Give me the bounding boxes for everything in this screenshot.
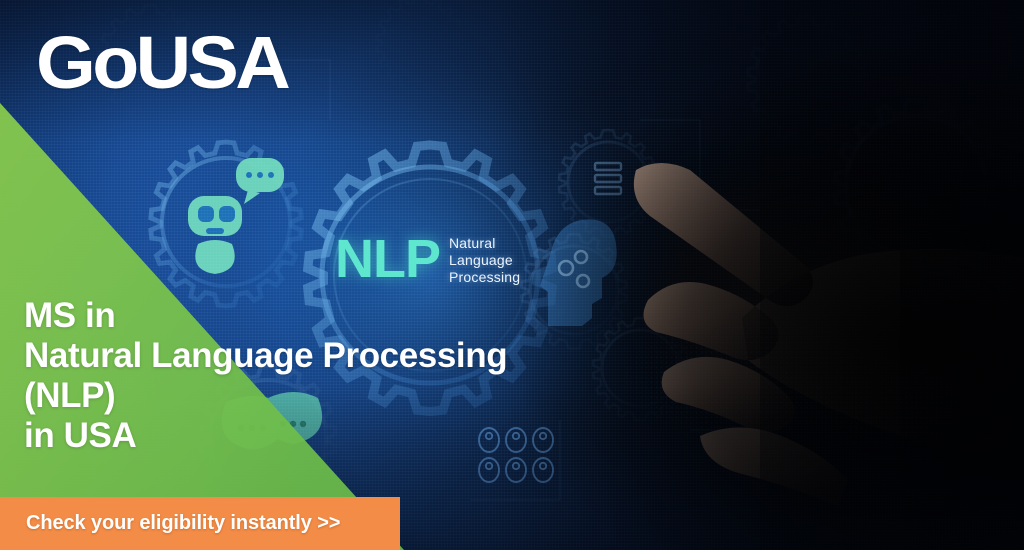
check-eligibility-button[interactable]: Check your eligibility instantly >>: [0, 497, 400, 550]
headline-line-2: Natural Language Processing: [24, 336, 507, 376]
promo-banner: NLP Natural Language Processing GoUSA MS…: [0, 0, 1024, 550]
nlp-word-natural: Natural: [449, 235, 496, 251]
headline-line-4: in USA: [24, 416, 507, 456]
nlp-word-language: Language: [449, 252, 513, 268]
check-eligibility-label: Check your eligibility instantly >>: [0, 512, 340, 535]
gousa-logo[interactable]: GoUSA: [36, 26, 287, 100]
nlp-graphic-label: NLP Natural Language Processing: [335, 232, 520, 286]
nlp-abbreviation: NLP: [335, 232, 440, 286]
nlp-word-processing: Processing: [449, 269, 520, 285]
nlp-expansion: Natural Language Processing: [449, 235, 520, 286]
page-title: MS in Natural Language Processing (NLP) …: [24, 296, 507, 456]
headline-line-3: (NLP): [24, 376, 507, 416]
headline-line-1: MS in: [24, 296, 507, 336]
